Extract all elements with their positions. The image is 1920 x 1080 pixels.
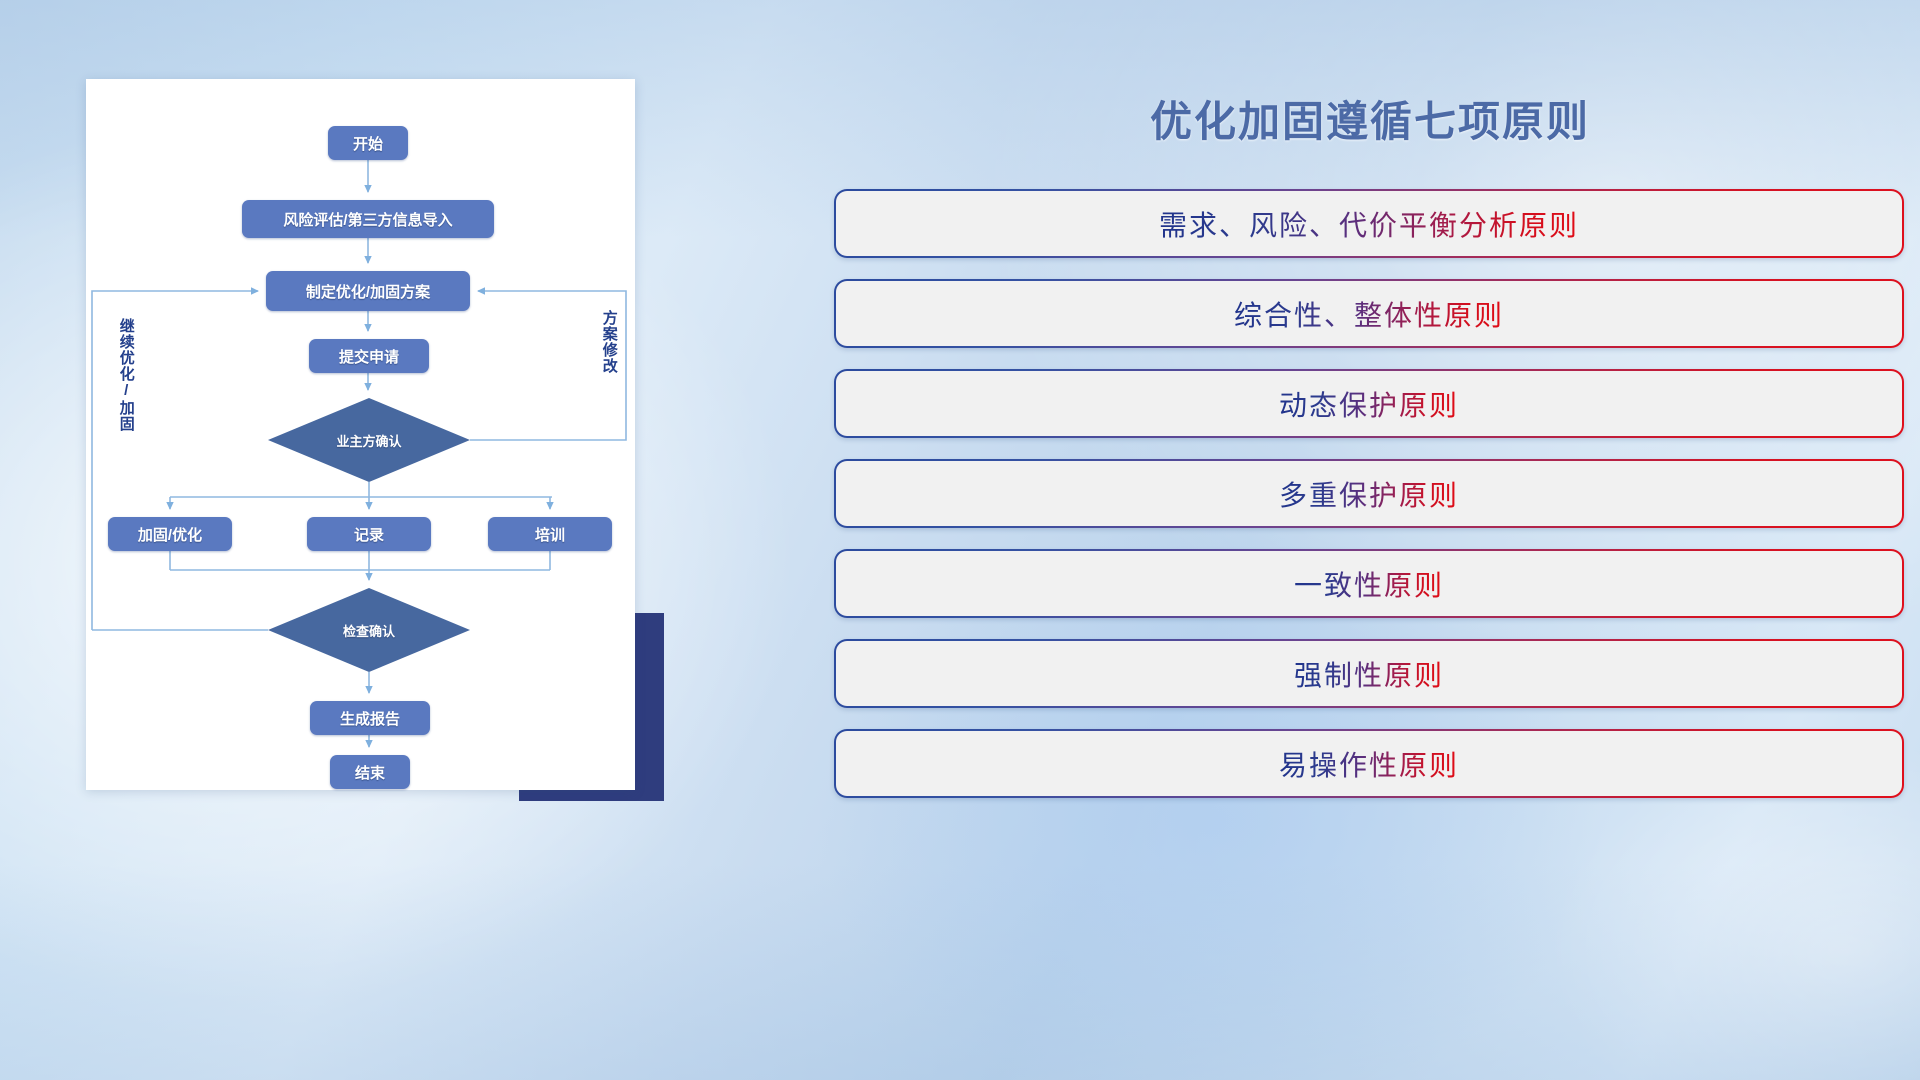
flow-node-record: 记录: [307, 517, 431, 551]
principle-item-label: 需求、风险、代价平衡分析原则: [1159, 204, 1579, 244]
principle-item[interactable]: 多重保护原则: [834, 459, 1904, 528]
principle-item[interactable]: 动态保护原则: [834, 369, 1904, 438]
flow-node-label: 检查确认: [343, 621, 395, 640]
principle-item-inner: 需求、风险、代价平衡分析原则: [836, 191, 1902, 256]
principle-item[interactable]: 强制性原则: [834, 639, 1904, 708]
flow-node-label: 记录: [354, 524, 384, 545]
flow-node-plan: 制定优化/加固方案: [266, 271, 470, 311]
flow-node-reinforce: 加固/优化: [108, 517, 232, 551]
flow-node-owner: 业主方确认: [268, 398, 470, 482]
principle-item-label: 强制性原则: [1294, 654, 1444, 694]
principle-item-label: 综合性、整体性原则: [1234, 294, 1504, 334]
principles-list: 需求、风险、代价平衡分析原则综合性、整体性原则动态保护原则多重保护原则一致性原则…: [834, 189, 1904, 819]
flow-node-label: 提交申请: [339, 346, 399, 367]
flow-node-label: 开始: [353, 133, 383, 154]
principle-item-inner: 一致性原则: [836, 551, 1902, 616]
principle-item-label: 易操作性原则: [1279, 744, 1459, 784]
flow-node-train: 培训: [488, 517, 612, 551]
flow-node-label: 培训: [535, 524, 565, 545]
flow-node-label: 生成报告: [340, 708, 400, 729]
principle-item[interactable]: 一致性原则: [834, 549, 1904, 618]
principle-item-inner: 动态保护原则: [836, 371, 1902, 436]
principle-item-label: 多重保护原则: [1279, 474, 1459, 514]
principle-item-inner: 强制性原则: [836, 641, 1902, 706]
principle-item[interactable]: 易操作性原则: [834, 729, 1904, 798]
flow-node-label: 风险评估/第三方信息导入: [283, 209, 452, 230]
flow-label-plan-revision: 方案修改: [601, 310, 617, 420]
flow-node-end: 结束: [330, 755, 410, 789]
principle-item-label: 一致性原则: [1294, 564, 1444, 604]
flow-node-risk: 风险评估/第三方信息导入: [242, 200, 494, 238]
principle-item[interactable]: 综合性、整体性原则: [834, 279, 1904, 348]
flow-node-check: 检查确认: [268, 588, 470, 672]
flowchart-panel: 继续优化/加固 方案修改 开始风险评估/第三方信息导入制定优化/加固方案提交申请…: [0, 0, 820, 1080]
flow-node-label: 制定优化/加固方案: [306, 281, 430, 302]
principles-panel: 优化加固遵循七项原则 需求、风险、代价平衡分析原则综合性、整体性原则动态保护原则…: [820, 0, 1920, 1080]
flow-node-start: 开始: [328, 126, 408, 160]
principle-item-inner: 多重保护原则: [836, 461, 1902, 526]
flow-node-report: 生成报告: [310, 701, 430, 735]
flow-node-label: 业主方确认: [336, 431, 401, 450]
flow-node-label: 结束: [355, 762, 385, 783]
flow-label-continue-optimize: 继续优化/加固: [118, 318, 134, 458]
flow-node-label: 加固/优化: [138, 524, 202, 545]
principle-item-inner: 易操作性原则: [836, 731, 1902, 796]
principle-item-label: 动态保护原则: [1279, 384, 1459, 424]
principle-item[interactable]: 需求、风险、代价平衡分析原则: [834, 189, 1904, 258]
principle-item-inner: 综合性、整体性原则: [836, 281, 1902, 346]
page-title: 优化加固遵循七项原则: [820, 88, 1920, 149]
flow-node-submit: 提交申请: [309, 339, 429, 373]
